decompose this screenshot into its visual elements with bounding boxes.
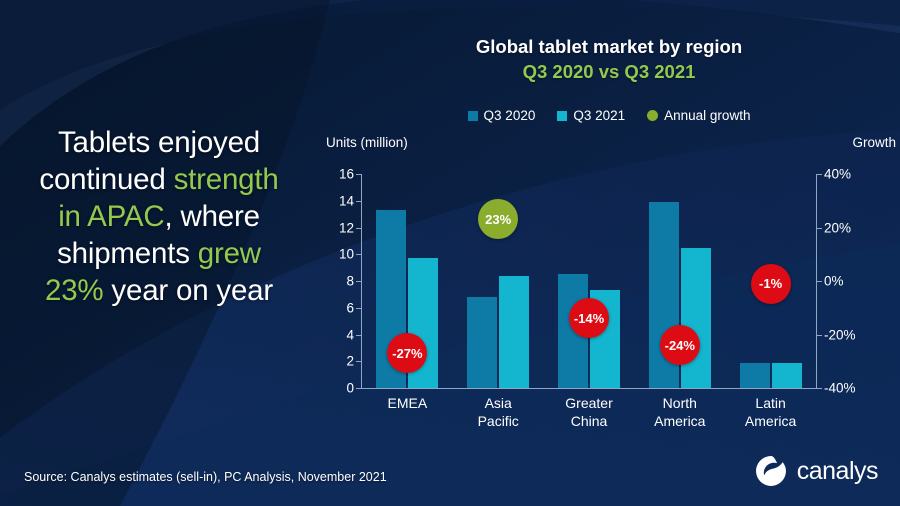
plot-area: 0246810121416-40%-20%0%20%40%-27%EMEA23%… — [362, 174, 816, 388]
legend-label: Q3 2021 — [573, 108, 625, 123]
y-axis-tick-mark — [356, 254, 362, 255]
y-axis-tick-mark — [356, 228, 362, 229]
source-note: Source: Canalys estimates (sell-in), PC … — [24, 470, 387, 484]
y2-axis-tick-mark — [816, 174, 822, 175]
headline-text: Tablets enjoyed continued strength in AP… — [0, 124, 318, 309]
y2-axis-tick-mark — [816, 335, 822, 336]
bar-q3-2021-north-america[interactable] — [681, 248, 711, 388]
chart-subtitle: Q3 2020 vs Q3 2021 — [318, 61, 900, 83]
y2-axis-tick-label: -40% — [824, 381, 856, 395]
y2-axis-tick-label: 20% — [824, 221, 851, 235]
growth-bubble-label: -27% — [392, 346, 422, 361]
legend-swatch-square-icon — [557, 111, 567, 121]
y-axis-tick-label: 14 — [339, 194, 354, 208]
y2-axis-tick-label: 40% — [824, 167, 851, 181]
headline-highlight-23pct: 23% — [45, 274, 103, 307]
x-axis-label-latin-america: Latin America — [745, 394, 796, 430]
y-axis-tick-mark — [356, 201, 362, 202]
growth-bubble-north-america[interactable]: -24% — [660, 325, 700, 365]
y-axis-tick-mark — [356, 308, 362, 309]
chart-legend: Q3 2020Q3 2021Annual growth — [318, 108, 900, 123]
y-axis-tick-mark — [356, 335, 362, 336]
y-axis-tick-label: 6 — [346, 301, 354, 315]
x-axis-label-asia-pacific: Asia Pacific — [478, 394, 519, 430]
y-axis-tick-mark — [356, 388, 362, 389]
canalys-logo: canalys — [754, 454, 878, 488]
headline-line-3c: , where — [164, 200, 259, 233]
growth-bubble-label: 23% — [485, 212, 511, 227]
x-axis-label-emea: EMEA — [388, 394, 428, 412]
legend-item-q3-2021[interactable]: Q3 2021 — [557, 108, 625, 123]
bar-q3-2021-asia-pacific[interactable] — [499, 276, 529, 388]
growth-bubble-asia-pacific[interactable]: 23% — [478, 199, 518, 239]
y2-axis-tick-mark — [816, 281, 822, 282]
chart-title: Global tablet market by region — [318, 36, 900, 58]
legend-swatch-circle-icon — [647, 110, 658, 121]
headline-line-5b: year on year — [103, 274, 273, 307]
legend-label: Q3 2020 — [484, 108, 536, 123]
legend-item-annual-growth[interactable]: Annual growth — [647, 108, 750, 123]
headline-highlight-grew: grew — [198, 237, 261, 270]
x-axis-label-greater-china: Greater China — [565, 394, 612, 430]
legend-item-q3-2020[interactable]: Q3 2020 — [468, 108, 536, 123]
y-axis-tick-mark — [356, 361, 362, 362]
headline-highlight-apac: APAC — [87, 200, 164, 233]
y-axis-tick-label: 0 — [346, 381, 354, 395]
growth-bubble-label: -14% — [574, 311, 604, 326]
y-axis-title: Units (million) — [326, 135, 408, 150]
y-axis-tick-label: 8 — [346, 274, 354, 288]
bar-q3-2021-latin-america[interactable] — [772, 363, 802, 388]
headline-line-1: Tablets enjoyed — [58, 126, 260, 159]
growth-bubble-latin-america[interactable]: -1% — [751, 264, 791, 304]
growth-bubble-emea[interactable]: -27% — [387, 333, 427, 373]
y2-axis-tick-mark — [816, 388, 822, 389]
bar-q3-2020-latin-america[interactable] — [740, 363, 770, 388]
y-axis-tick-mark — [356, 174, 362, 175]
headline-line-3a: in — [58, 200, 87, 233]
headline-line-4a: shipments — [57, 237, 198, 270]
canalys-logo-text: canalys — [797, 457, 878, 486]
x-axis-label-north-america: North America — [654, 394, 705, 430]
bar-q3-2020-asia-pacific[interactable] — [467, 297, 497, 388]
y2-axis-tick-mark — [816, 228, 822, 229]
y-axis-tick-label: 16 — [339, 167, 354, 181]
growth-bubble-greater-china[interactable]: -14% — [569, 298, 609, 338]
y-axis-tick-label: 12 — [339, 221, 354, 235]
legend-label: Annual growth — [664, 108, 750, 123]
canalys-mark-icon — [754, 454, 788, 488]
growth-bubble-label: -1% — [759, 276, 782, 291]
chart-panel: Global tablet market by region Q3 2020 v… — [318, 0, 900, 452]
y2-axis-tick-label: 0% — [824, 274, 844, 288]
y2-axis-title: Growth — [852, 135, 896, 150]
growth-bubble-label: -24% — [665, 338, 695, 353]
y-axis-tick-mark — [356, 281, 362, 282]
headline-line-2a: continued — [39, 163, 173, 196]
y-axis-tick-label: 2 — [346, 355, 354, 369]
x-axis-line — [362, 388, 816, 389]
y2-axis-tick-label: -20% — [824, 328, 856, 342]
legend-swatch-square-icon — [468, 111, 478, 121]
y-axis-tick-label: 10 — [339, 248, 354, 262]
y-axis-tick-label: 4 — [346, 328, 354, 342]
headline-highlight-strength: strength — [174, 163, 279, 196]
